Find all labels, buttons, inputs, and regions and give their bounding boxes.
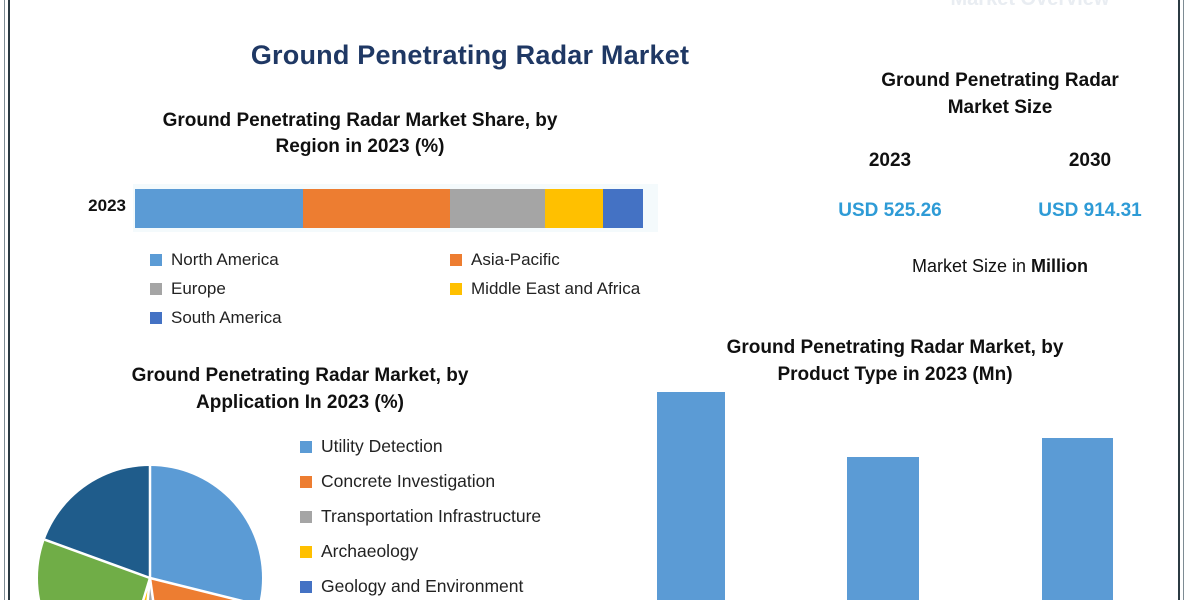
market-size-title-line1: Ground Penetrating Radar xyxy=(820,68,1180,95)
legend-swatch-icon xyxy=(450,283,462,295)
application-chart-title: Ground Penetrating Radar Market, by Appl… xyxy=(20,363,580,416)
region-legend: North AmericaAsia-PacificEuropeMiddle Ea… xyxy=(150,250,710,328)
infographic-canvas: Market Overview Ground Penetrating Radar… xyxy=(0,0,1200,600)
clipped-top-text: Market Overview xyxy=(880,0,1180,11)
region-stacked-bar xyxy=(135,189,643,228)
legend-label: South America xyxy=(171,308,282,328)
application-chart-title-line2: Application In 2023 (%) xyxy=(20,390,580,417)
region-bar-segment xyxy=(545,189,603,228)
product-type-bar xyxy=(1042,438,1113,600)
frame-rule-left-inner xyxy=(4,0,5,600)
legend-label: Asia-Pacific xyxy=(471,250,560,270)
legend-label: Utility Detection xyxy=(321,436,443,457)
market-size-unit: Market Size in Million xyxy=(820,256,1180,277)
market-size-value-base: USD 525.26 xyxy=(810,200,970,222)
product-type-bar xyxy=(847,457,919,600)
product-type-bar-chart xyxy=(640,388,1160,600)
region-legend-item[interactable]: Asia-Pacific xyxy=(450,250,710,270)
legend-label: Concrete Investigation xyxy=(321,471,495,492)
market-size-year-forecast: 2030 xyxy=(1020,150,1160,172)
legend-label: Archaeology xyxy=(321,541,418,562)
application-legend-item[interactable]: Archaeology xyxy=(300,541,640,562)
region-legend-item[interactable]: Middle East and Africa xyxy=(450,279,710,299)
region-legend-item[interactable]: South America xyxy=(150,308,450,328)
legend-swatch-icon xyxy=(300,511,312,523)
region-bar-segment xyxy=(303,189,450,228)
market-size-unit-prefix: Market Size in xyxy=(912,256,1031,276)
application-legend-item[interactable]: Geology and Environment xyxy=(300,576,640,597)
market-size-year-base: 2023 xyxy=(820,150,960,172)
legend-label: Middle East and Africa xyxy=(471,279,640,299)
legend-swatch-icon xyxy=(150,312,162,324)
region-legend-item[interactable]: Europe xyxy=(150,279,450,299)
market-size-value-forecast: USD 914.31 xyxy=(1010,200,1170,222)
product-type-bar xyxy=(657,392,725,600)
legend-swatch-icon xyxy=(300,441,312,453)
region-category-label: 2023 xyxy=(64,196,126,216)
application-legend-item[interactable]: Concrete Investigation xyxy=(300,471,640,492)
legend-label: North America xyxy=(171,250,279,270)
application-legend-item[interactable]: Transportation Infrastructure xyxy=(300,506,640,527)
product-type-chart-title-line2: Product Type in 2023 (Mn) xyxy=(650,362,1140,389)
legend-label: Transportation Infrastructure xyxy=(321,506,541,527)
market-size-title-line2: Market Size xyxy=(820,95,1180,122)
application-legend: Utility DetectionConcrete InvestigationT… xyxy=(300,436,640,597)
legend-swatch-icon xyxy=(300,476,312,488)
application-legend-item[interactable]: Utility Detection xyxy=(300,436,640,457)
product-type-chart-title-line1: Ground Penetrating Radar Market, by xyxy=(650,335,1140,362)
legend-swatch-icon xyxy=(150,283,162,295)
legend-swatch-icon xyxy=(300,546,312,558)
application-pie-chart xyxy=(38,466,262,600)
frame-rule-left xyxy=(8,0,10,600)
market-size-title: Ground Penetrating Radar Market Size xyxy=(820,68,1180,122)
region-bar-segment xyxy=(135,189,303,228)
market-size-unit-bold: Million xyxy=(1031,256,1088,276)
region-chart-title: Ground Penetrating Radar Market Share, b… xyxy=(60,108,660,160)
application-chart-title-line1: Ground Penetrating Radar Market, by xyxy=(20,363,580,390)
region-bar-segment xyxy=(603,189,643,228)
page-title: Ground Penetrating Radar Market xyxy=(0,40,940,71)
region-bar-segment xyxy=(450,189,545,228)
region-legend-item[interactable]: North America xyxy=(150,250,450,270)
frame-rule-right-inner xyxy=(1183,0,1184,600)
legend-swatch-icon xyxy=(450,254,462,266)
legend-label: Europe xyxy=(171,279,226,299)
region-chart-title-line1: Ground Penetrating Radar Market Share, b… xyxy=(60,108,660,134)
legend-swatch-icon xyxy=(300,581,312,593)
legend-label: Geology and Environment xyxy=(321,576,523,597)
product-type-chart-title: Ground Penetrating Radar Market, by Prod… xyxy=(650,335,1140,388)
region-chart-title-line2: Region in 2023 (%) xyxy=(60,134,660,160)
legend-swatch-icon xyxy=(150,254,162,266)
application-pie-wrap xyxy=(38,466,262,600)
